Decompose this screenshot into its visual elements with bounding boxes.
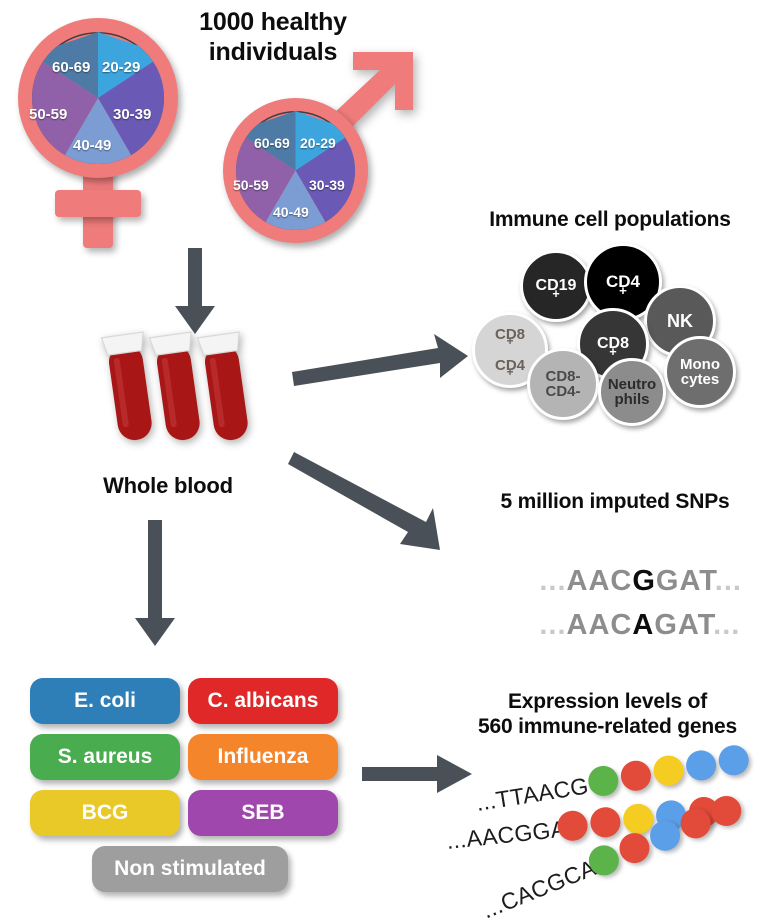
blood-tubes — [95, 330, 275, 455]
bead — [619, 759, 653, 793]
cell-neutrophils: Neutro phils — [598, 358, 666, 426]
snp-suffix: ... — [713, 609, 740, 641]
pie-label-20-29: 20-29 — [300, 135, 336, 151]
pie-label-40-49: 40-49 — [273, 204, 309, 220]
stimulus-bcg[interactable]: BCG — [30, 790, 180, 836]
expression-strands: ...TTAACGG ...AACGGAT ...CACGCAA — [455, 748, 771, 918]
female-symbol: 20-29 30-39 40-49 50-59 60-69 — [10, 18, 210, 248]
stimuli-panel: E. coli C. albicans S. aureus Influenza … — [30, 678, 350, 893]
pie-label-20-29: 20-29 — [102, 59, 140, 76]
pie-label-60-69: 60-69 — [52, 59, 90, 76]
bead — [717, 743, 751, 777]
arrow-blood-to-snps — [288, 450, 458, 570]
bead — [651, 753, 685, 787]
whole-blood-label: Whole blood — [78, 473, 258, 499]
cell-monocytes: Mono cytes — [664, 336, 736, 408]
pie-label-50-59: 50-59 — [233, 177, 269, 193]
expression-title: Expression levels of 560 immune-related … — [450, 690, 765, 740]
pie-label-40-49: 40-49 — [73, 137, 111, 154]
stimulus-s-aureus[interactable]: S. aureus — [30, 734, 180, 780]
stimulus-c-albicans[interactable]: C. albicans — [188, 678, 338, 724]
snp-prefix: ... — [539, 609, 566, 641]
arrow-blood-to-immune — [290, 330, 470, 400]
arrow-cohort-to-blood — [165, 248, 225, 338]
figure-canvas: 1000 healthy individuals 20-29 30-39 40-… — [0, 0, 771, 922]
arrow-blood-to-stimuli — [125, 520, 185, 650]
snp-right: GAT — [654, 609, 713, 641]
pie-label-50-59: 50-59 — [29, 106, 67, 123]
stimulus-seb[interactable]: SEB — [188, 790, 338, 836]
snp-sequences: ...AACGGAT... ...AACAGAT... — [485, 532, 750, 622]
pie-label-30-39: 30-39 — [309, 177, 345, 193]
immune-cell-cluster: CD8+CD4+ CD19+ CD4+ NK CD8+ CD8- CD4- Ne… — [470, 240, 755, 420]
cell-cd8-cd4-double-negative: CD8- CD4- — [527, 348, 599, 420]
pie-label-60-69: 60-69 — [254, 135, 290, 151]
bead — [589, 806, 622, 839]
pie-label-30-39: 30-39 — [113, 106, 151, 123]
stimulus-e-coli[interactable]: E. coli — [30, 678, 180, 724]
immune-cell-title: Immune cell populations — [455, 208, 765, 233]
bead — [684, 748, 718, 782]
female-stem-horizontal — [55, 190, 141, 217]
snp-sequence-row: ...AACAGAT... — [485, 576, 740, 675]
male-symbol: 20-29 30-39 40-49 50-59 60-69 — [205, 40, 425, 240]
snps-title: 5 million imputed SNPs — [465, 490, 765, 515]
stimulus-non-stimulated[interactable]: Non stimulated — [92, 846, 288, 892]
cell-cd19-positive: CD19+ — [520, 250, 592, 322]
snp-left: AAC — [567, 609, 633, 641]
snp-variant: A — [632, 609, 654, 641]
stimulus-influenza[interactable]: Influenza — [188, 734, 338, 780]
